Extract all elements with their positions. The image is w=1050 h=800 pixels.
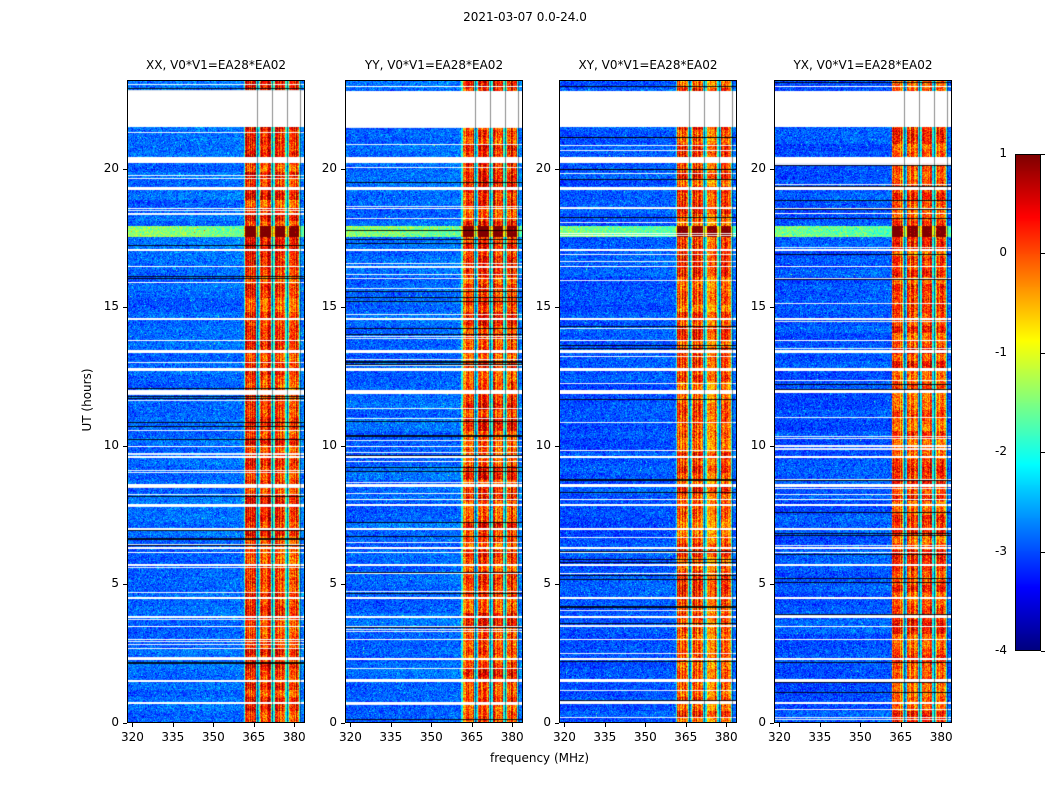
colorbar-tickmark [1041,154,1045,155]
x-tickmark [391,723,392,727]
y-tick-label: 5 [285,576,337,590]
y-tickmark [123,446,127,447]
y-tickmark [341,446,345,447]
y-tickmark [341,307,345,308]
y-tickmark [555,307,559,308]
y-tick-label: 0 [285,715,337,729]
y-tick-label: 0 [67,715,119,729]
y-tick-label: 15 [499,299,551,313]
y-tick-label: 0 [499,715,551,729]
x-tickmark [686,723,687,727]
x-axis-label: frequency (MHz) [0,751,1050,765]
y-tickmark [770,584,774,585]
y-tick-label: 20 [67,161,119,175]
x-tick-label: 380 [482,730,542,744]
colorbar-tickmark [1041,353,1045,354]
y-tickmark [341,169,345,170]
x-tickmark [213,723,214,727]
waterfall-panel-yy [345,80,523,723]
waterfall-image-yy [346,81,522,722]
x-tickmark [779,723,780,727]
x-tickmark [350,723,351,727]
x-tick-label: 380 [264,730,324,744]
y-tickmark [555,723,559,724]
y-tickmark [123,723,127,724]
x-tickmark [860,723,861,727]
y-tick-label: 10 [285,438,337,452]
y-tickmark [555,169,559,170]
waterfall-image-yx [775,81,951,722]
colorbar-tick-label: -4 [955,643,1007,657]
y-tickmark [555,446,559,447]
y-tick-label: 10 [714,438,766,452]
x-tick-label: 380 [696,730,756,744]
x-tickmark [431,723,432,727]
colorbar-tick-label: 0 [955,245,1007,259]
colorbar-tick-label: -1 [955,345,1007,359]
x-tickmark [901,723,902,727]
x-tickmark [605,723,606,727]
y-tickmark [341,584,345,585]
y-tick-label: 20 [714,161,766,175]
y-tick-label: 5 [67,576,119,590]
colorbar-tick-label: 1 [955,146,1007,160]
x-tickmark [472,723,473,727]
colorbar-tickmark [1041,452,1045,453]
colorbar-tickmark [1041,253,1045,254]
colorbar-tickmark [1041,651,1045,652]
y-tick-label: 15 [714,299,766,313]
colorbar-tickmark [1041,552,1045,553]
y-tick-label: 0 [714,715,766,729]
x-tickmark [820,723,821,727]
y-tickmark [770,446,774,447]
x-tickmark [564,723,565,727]
y-tickmark [555,584,559,585]
figure-suptitle: 2021-03-07 0.0-24.0 [0,10,1050,24]
colorbar [1015,154,1041,651]
y-tickmark [770,307,774,308]
x-tickmark [645,723,646,727]
x-tickmark [254,723,255,727]
panel-title-yx: YX, V0*V1=EA28*EA02 [734,58,992,72]
y-tickmark [770,723,774,724]
waterfall-panel-xy [559,80,737,723]
y-tickmark [123,169,127,170]
figure-canvas: 2021-03-07 0.0-24.0 XX, V0*V1=EA28*EA020… [0,0,1050,800]
colorbar-tick-label: -2 [955,444,1007,458]
waterfall-image-xy [560,81,736,722]
y-tick-label: 15 [285,299,337,313]
y-tick-label: 5 [714,576,766,590]
y-tick-label: 20 [285,161,337,175]
colorbar-tick-label: -3 [955,544,1007,558]
y-tickmark [770,169,774,170]
x-tick-label: 380 [911,730,971,744]
y-tick-label: 10 [499,438,551,452]
x-tickmark [173,723,174,727]
y-tickmark [123,584,127,585]
x-tickmark [132,723,133,727]
y-tickmark [341,723,345,724]
waterfall-panel-xx [127,80,305,723]
y-tickmark [123,307,127,308]
waterfall-image-xx [128,81,304,722]
y-axis-label: UT (hours) [80,300,94,500]
y-tick-label: 20 [499,161,551,175]
waterfall-panel-yx [774,80,952,723]
y-tick-label: 5 [499,576,551,590]
x-tickmark [941,723,942,727]
